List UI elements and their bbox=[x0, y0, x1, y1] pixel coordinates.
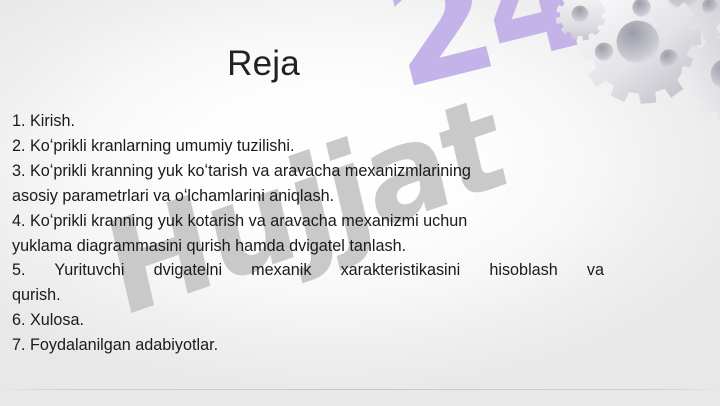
list-item: asosiy parametrlari va oʻlchamlarini ani… bbox=[12, 184, 604, 209]
list-item: 4. Koʻprikli kranning yuk kotarish va ar… bbox=[12, 209, 604, 234]
list-item: 7. Foydalanilgan adabiyotlar. bbox=[12, 333, 604, 358]
list-item: 1. Kirish. bbox=[12, 109, 604, 134]
list-item: 5. Yurituvchi dvigatelni mexanik xarakte… bbox=[12, 258, 604, 283]
bottom-divider bbox=[0, 389, 720, 390]
outline-list: 1. Kirish. 2. Koʻprikli kranlarning umum… bbox=[12, 109, 604, 358]
list-item: 3. Koʻprikli kranning yuk koʻtarish va a… bbox=[12, 159, 604, 184]
slide-canvas: 24 Hujjat bbox=[0, 0, 720, 406]
list-item: yuklama diagrammasini qurish hamda dviga… bbox=[12, 234, 604, 259]
list-item: qurish. bbox=[12, 283, 604, 308]
list-item: 2. Koʻprikli kranlarning umumiy tuzilish… bbox=[12, 134, 604, 159]
page-title: Reja bbox=[0, 42, 527, 86]
list-item: 6. Xulosa. bbox=[12, 308, 604, 333]
